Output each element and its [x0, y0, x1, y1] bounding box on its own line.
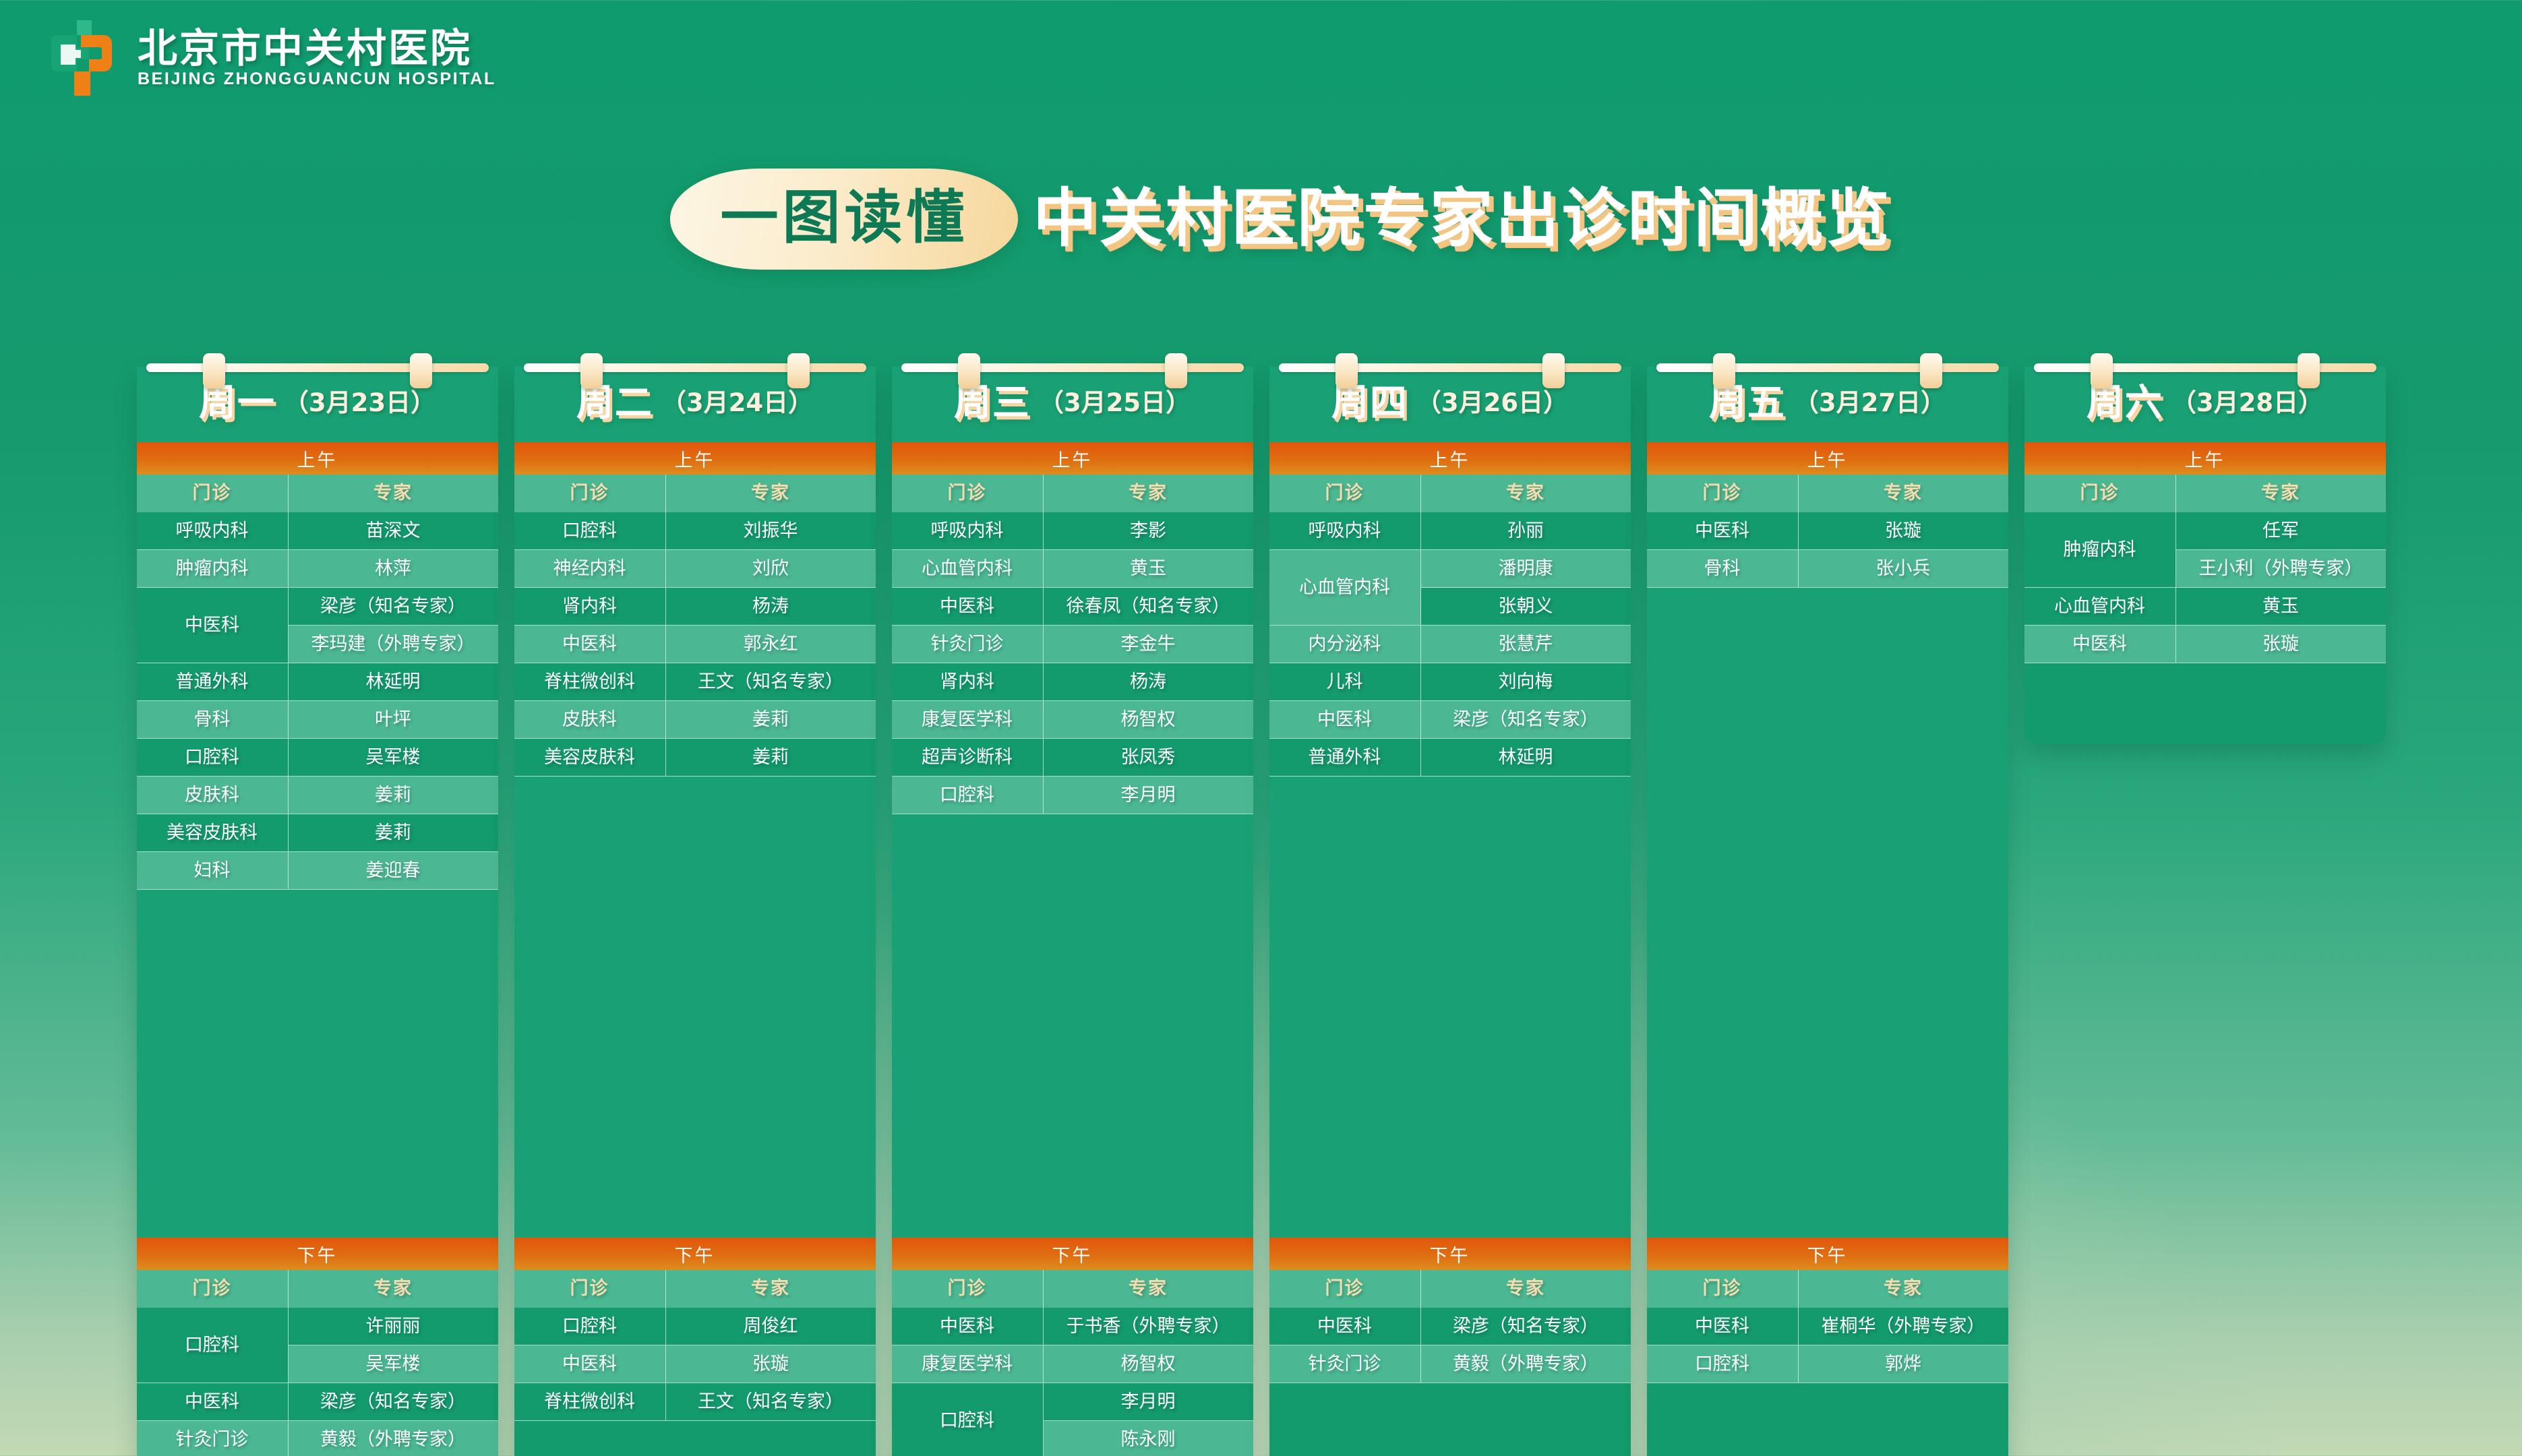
day-card-header: 周四（3月26日）	[1269, 367, 1631, 442]
table-row[interactable]: 皮肤科姜莉	[514, 701, 876, 739]
title-badge-label: 一图读懂	[720, 189, 968, 247]
cell-department: 口腔科	[514, 1308, 666, 1345]
period-header-morning: 上午	[2024, 442, 2386, 475]
cell-expert: 杨涛	[1044, 663, 1253, 700]
day-card-header: 周五（3月27日）	[1647, 367, 2008, 442]
afternoon-section: 下午门诊专家中医科崔桐华（外聘专家）口腔科郭烨	[1647, 1238, 2008, 1383]
cell-expert: 李金牛	[1044, 626, 1253, 663]
cell-expert: 王文（知名专家）	[666, 663, 876, 700]
table-row[interactable]: 心血管内科黄玉	[2024, 588, 2386, 626]
cell-department: 心血管内科	[2024, 588, 2176, 625]
period-header-morning: 上午	[1269, 442, 1631, 475]
period-header-afternoon: 下午	[137, 1238, 498, 1270]
table-row[interactable]: 中医科于书香（外聘专家）	[892, 1308, 1253, 1345]
cell-department: 口腔科	[514, 512, 666, 549]
cell-department: 中医科	[892, 1308, 1044, 1345]
table-row[interactable]: 心血管内科潘明康张朝义	[1269, 550, 1631, 626]
cell-expert: 刘欣	[666, 550, 876, 587]
table-row[interactable]: 心血管内科黄玉	[892, 550, 1253, 588]
cell-department: 骨科	[137, 701, 289, 738]
hospital-name-cn: 北京市中关村医院	[138, 28, 496, 68]
cell-expert: 姜莉	[289, 814, 498, 851]
cell-department: 美容皮肤科	[137, 814, 289, 851]
table-header-row: 门诊专家	[137, 475, 498, 512]
period-header-morning: 上午	[1647, 442, 2008, 475]
cell-expert: 任军	[2176, 512, 2386, 550]
table-row[interactable]: 中医科梁彦（知名专家）	[1269, 1308, 1631, 1345]
table-row[interactable]: 中医科梁彦（知名专家）	[1269, 701, 1631, 739]
cell-department: 脊柱微创科	[514, 1383, 666, 1420]
cell-department: 中医科	[1269, 701, 1421, 738]
cell-expert: 梁彦（知名专家）	[289, 588, 498, 626]
cell-department: 超声诊断科	[892, 739, 1044, 776]
hanger-bar-icon	[146, 363, 489, 372]
day-card-header: 周二（3月24日）	[514, 367, 876, 442]
card-hanger	[1279, 359, 1621, 370]
day-date: （3月24日）	[661, 390, 813, 415]
table-row[interactable]: 针灸门诊黄毅（外聘专家）	[137, 1421, 498, 1456]
table-row[interactable]: 针灸门诊黄毅（外聘专家）	[1269, 1345, 1631, 1383]
expert-group: 潘明康张朝义	[1421, 550, 1631, 625]
cell-expert: 吴军楼	[289, 1345, 498, 1383]
table-header-row: 门诊专家	[137, 1270, 498, 1308]
morning-section: 上午门诊专家呼吸内科苗深文肿瘤内科林萍中医科梁彦（知名专家）李玛建（外聘专家）普…	[137, 442, 498, 1238]
cell-expert: 李月明	[1044, 777, 1253, 814]
cell-department: 中医科	[137, 1383, 289, 1420]
column-header-dept: 门诊	[514, 1270, 666, 1308]
column-header-expert: 专家	[1799, 1270, 2008, 1308]
cell-expert: 黄毅（外聘专家）	[289, 1421, 498, 1456]
cell-department: 心血管内科	[1269, 550, 1421, 625]
cell-department: 口腔科	[137, 739, 289, 776]
cell-expert: 郭永红	[666, 626, 876, 663]
table-row[interactable]: 肾内科杨涛	[514, 588, 876, 626]
cell-department: 中医科	[1647, 1308, 1799, 1345]
table-row[interactable]: 骨科张小兵	[1647, 550, 2008, 588]
day-name: 周一	[199, 384, 276, 421]
cell-expert: 刘振华	[666, 512, 876, 549]
cell-expert: 郭烨	[1799, 1345, 2008, 1383]
table-row[interactable]: 口腔科周俊红	[514, 1308, 876, 1345]
hanger-bar-icon	[901, 363, 1244, 372]
column-header-dept: 门诊	[1647, 475, 1799, 512]
cell-expert: 林萍	[289, 550, 498, 587]
table-row[interactable]: 肿瘤内科任军王小利（外聘专家）	[2024, 512, 2386, 588]
hanger-clip-right-icon	[2298, 353, 2320, 388]
card-hanger	[524, 359, 866, 370]
table-header-row: 门诊专家	[892, 475, 1253, 512]
table-row[interactable]: 中医科郭永红	[514, 626, 876, 663]
cell-expert: 苗深文	[289, 512, 498, 549]
table-row[interactable]: 中医科梁彦（知名专家）	[137, 1383, 498, 1421]
morning-section: 上午门诊专家肿瘤内科任军王小利（外聘专家）心血管内科黄玉中医科张璇	[2024, 442, 2386, 663]
period-header-afternoon: 下午	[514, 1238, 876, 1270]
table-header-row: 门诊专家	[1647, 475, 2008, 512]
hanger-bar-icon	[1279, 363, 1621, 372]
table-row[interactable]: 康复医学科杨智权	[892, 1345, 1253, 1383]
hanger-clip-right-icon	[1920, 353, 1942, 388]
afternoon-section: 下午门诊专家中医科于书香（外聘专家）康复医学科杨智权口腔科李月明陈永刚	[892, 1238, 1253, 1456]
table-row[interactable]: 普通外科林延明	[1269, 739, 1631, 777]
day-name: 周三	[954, 384, 1031, 421]
cell-expert: 吴军楼	[289, 739, 498, 776]
cell-department: 美容皮肤科	[514, 739, 666, 776]
cell-expert: 黄毅（外聘专家）	[1421, 1345, 1631, 1383]
cell-department: 肿瘤内科	[137, 550, 289, 587]
column-header-expert: 专家	[666, 475, 876, 512]
column-header-dept: 门诊	[1269, 1270, 1421, 1308]
cell-expert: 姜莉	[289, 777, 498, 814]
period-header-morning: 上午	[137, 442, 498, 475]
table-row[interactable]: 脊柱微创科王文（知名专家）	[514, 663, 876, 701]
table-row[interactable]: 儿科刘向梅	[1269, 663, 1631, 701]
hanger-clip-left-icon	[2091, 353, 2113, 388]
card-hanger	[1656, 359, 1999, 370]
column-header-dept: 门诊	[2024, 475, 2176, 512]
cell-expert: 杨智权	[1044, 1345, 1253, 1383]
hanger-clip-left-icon	[1335, 353, 1358, 388]
card-tail	[2024, 663, 2386, 744]
cell-expert: 林延明	[289, 663, 498, 700]
column-header-expert: 专家	[1421, 1270, 1631, 1308]
table-row[interactable]: 中医科张璇	[1647, 512, 2008, 550]
cell-department: 针灸门诊	[892, 626, 1044, 663]
card-tail	[514, 1421, 876, 1456]
cell-department: 内分泌科	[1269, 626, 1421, 663]
cell-department: 呼吸内科	[137, 512, 289, 549]
day-date: （3月25日）	[1039, 390, 1191, 415]
cell-expert: 姜莉	[666, 701, 876, 738]
table-row[interactable]: 口腔科刘振华	[514, 512, 876, 550]
cell-expert: 王文（知名专家）	[666, 1383, 876, 1420]
period-header-afternoon: 下午	[1269, 1238, 1631, 1270]
hanger-clip-right-icon	[1542, 353, 1565, 388]
table-row[interactable]: 妇科姜迎春	[137, 852, 498, 890]
table-header-row: 门诊专家	[2024, 475, 2386, 512]
cell-department: 口腔科	[892, 777, 1044, 814]
column-header-dept: 门诊	[137, 475, 289, 512]
card-hanger	[146, 359, 489, 370]
card-hanger	[2034, 359, 2376, 370]
cell-department: 肿瘤内科	[2024, 512, 2176, 587]
column-header-dept: 门诊	[1647, 1270, 1799, 1308]
table-row[interactable]: 口腔科李月明陈永刚	[892, 1383, 1253, 1456]
day-column-2: 周二（3月24日）上午门诊专家口腔科刘振华神经内科刘欣肾内科杨涛中医科郭永红脊柱…	[514, 337, 876, 1456]
table-row[interactable]: 普通外科林延明	[137, 663, 498, 701]
day-date: （3月28日）	[2171, 390, 2323, 415]
table-row[interactable]: 肾内科杨涛	[892, 663, 1253, 701]
cell-department: 针灸门诊	[1269, 1345, 1421, 1383]
afternoon-section: 下午门诊专家中医科梁彦（知名专家）针灸门诊黄毅（外聘专家）	[1269, 1238, 1631, 1383]
cell-expert: 梁彦（知名专家）	[1421, 701, 1631, 738]
cell-expert: 叶坪	[289, 701, 498, 738]
cell-department: 口腔科	[1647, 1345, 1799, 1383]
cell-expert: 杨智权	[1044, 701, 1253, 738]
hanger-bar-icon	[524, 363, 866, 372]
morning-section: 上午门诊专家呼吸内科孙丽心血管内科潘明康张朝义内分泌科张慧芹儿科刘向梅中医科梁彦…	[1269, 442, 1631, 1238]
table-row[interactable]: 呼吸内科李影	[892, 512, 1253, 550]
cell-expert: 张璇	[1799, 512, 2008, 549]
afternoon-section: 下午门诊专家口腔科许丽丽吴军楼中医科梁彦（知名专家）针灸门诊黄毅（外聘专家）推拿…	[137, 1238, 498, 1456]
table-row[interactable]: 口腔科许丽丽吴军楼	[137, 1308, 498, 1383]
cell-expert: 李月明	[1044, 1383, 1253, 1421]
table-header-row: 门诊专家	[1269, 1270, 1631, 1308]
day-date: （3月23日）	[284, 390, 436, 415]
table-row[interactable]: 脊柱微创科王文（知名专家）	[514, 1383, 876, 1421]
table-row[interactable]: 肿瘤内科林萍	[137, 550, 498, 588]
morning-section: 上午门诊专家口腔科刘振华神经内科刘欣肾内科杨涛中医科郭永红脊柱微创科王文（知名专…	[514, 442, 876, 1238]
column-header-expert: 专家	[289, 1270, 498, 1308]
cell-department: 中医科	[1269, 1308, 1421, 1345]
cell-expert: 周俊红	[666, 1308, 876, 1345]
hanger-clip-left-icon	[580, 353, 603, 388]
table-row[interactable]: 皮肤科姜莉	[137, 777, 498, 814]
cell-department: 儿科	[1269, 663, 1421, 700]
cell-expert: 林延明	[1421, 739, 1631, 776]
cell-expert: 姜莉	[666, 739, 876, 776]
expert-group: 李月明陈永刚	[1044, 1383, 1253, 1456]
table-row[interactable]: 超声诊断科张凤秀	[892, 739, 1253, 777]
day-column-1: 周一（3月23日）上午门诊专家呼吸内科苗深文肿瘤内科林萍中医科梁彦（知名专家）李…	[137, 337, 498, 1456]
cell-department: 针灸门诊	[137, 1421, 289, 1456]
day-card-header: 周三（3月25日）	[892, 367, 1253, 442]
day-column-4: 周四（3月26日）上午门诊专家呼吸内科孙丽心血管内科潘明康张朝义内分泌科张慧芹儿…	[1269, 337, 1631, 1456]
expert-group: 任军王小利（外聘专家）	[2176, 512, 2386, 587]
table-row[interactable]: 中医科梁彦（知名专家）李玛建（外聘专家）	[137, 588, 498, 663]
cell-expert: 张璇	[666, 1345, 876, 1383]
hanger-bar-icon	[2034, 363, 2376, 372]
cell-department: 口腔科	[892, 1383, 1044, 1456]
cell-department: 骨科	[1647, 550, 1799, 587]
day-date: （3月27日）	[1794, 390, 1946, 415]
hospital-name-en: BEIJING ZHONGGUANCUN HOSPITAL	[138, 71, 496, 88]
cell-expert: 梁彦（知名专家）	[289, 1383, 498, 1420]
page-title-row: 一图读懂 中关村医院专家出诊时间概览	[0, 169, 2522, 270]
card-hanger	[901, 359, 1244, 370]
cell-department: 中医科	[892, 588, 1044, 625]
cell-department: 口腔科	[137, 1308, 289, 1383]
column-header-expert: 专家	[1799, 475, 2008, 512]
hanger-clip-left-icon	[1713, 353, 1735, 388]
expert-group: 许丽丽吴军楼	[289, 1308, 498, 1383]
table-row[interactable]: 神经内科刘欣	[514, 550, 876, 588]
cell-department: 呼吸内科	[1269, 512, 1421, 549]
cell-expert: 徐春凤（知名专家）	[1044, 588, 1253, 625]
column-header-expert: 专家	[289, 475, 498, 512]
title-badge: 一图读懂	[670, 169, 1018, 270]
cell-department: 普通外科	[1269, 739, 1421, 776]
cell-department: 中医科	[1647, 512, 1799, 549]
hanger-clip-right-icon	[787, 353, 810, 388]
day-column-6: 周六（3月28日）上午门诊专家肿瘤内科任军王小利（外聘专家）心血管内科黄玉中医科…	[2024, 337, 2386, 1456]
cell-expert: 杨涛	[666, 588, 876, 625]
table-header-row: 门诊专家	[514, 475, 876, 512]
cell-department: 心血管内科	[892, 550, 1044, 587]
day-name: 周二	[576, 384, 653, 421]
table-row[interactable]: 口腔科郭烨	[1647, 1345, 2008, 1383]
cell-department: 普通外科	[137, 663, 289, 700]
table-row[interactable]: 骨科叶坪	[137, 701, 498, 739]
table-row[interactable]: 美容皮肤科姜莉	[137, 814, 498, 852]
cell-expert: 孙丽	[1421, 512, 1631, 549]
cell-expert: 许丽丽	[289, 1308, 498, 1345]
cell-expert: 刘向梅	[1421, 663, 1631, 700]
period-header-morning: 上午	[892, 442, 1253, 475]
morning-section: 上午门诊专家呼吸内科李影心血管内科黄玉中医科徐春凤（知名专家）针灸门诊李金牛肾内…	[892, 442, 1253, 1238]
table-header-row: 门诊专家	[1647, 1270, 2008, 1308]
column-header-dept: 门诊	[892, 1270, 1044, 1308]
cell-expert: 李影	[1044, 512, 1253, 549]
hanger-clip-right-icon	[1165, 353, 1187, 388]
cell-department: 肾内科	[514, 588, 666, 625]
day-name: 周五	[1709, 384, 1786, 421]
table-row[interactable]: 康复医学科杨智权	[892, 701, 1253, 739]
column-header-expert: 专家	[2176, 475, 2386, 512]
cell-department: 脊柱微创科	[514, 663, 666, 700]
day-card: 周三（3月25日）上午门诊专家呼吸内科李影心血管内科黄玉中医科徐春凤（知名专家）…	[892, 367, 1253, 1456]
cell-expert: 李玛建（外聘专家）	[289, 626, 498, 663]
column-header-dept: 门诊	[892, 475, 1044, 512]
card-tail	[1647, 1383, 2008, 1456]
cell-department: 妇科	[137, 852, 289, 889]
cell-expert: 黄玉	[2176, 588, 2386, 625]
cell-expert: 张璇	[2176, 626, 2386, 663]
cell-expert: 姜迎春	[289, 852, 498, 889]
cell-department: 呼吸内科	[892, 512, 1044, 549]
cell-expert: 于书香（外聘专家）	[1044, 1308, 1253, 1345]
cell-department: 肾内科	[892, 663, 1044, 700]
page-title: 中关村医院专家出诊时间概览	[1033, 186, 1892, 253]
table-row[interactable]: 呼吸内科孙丽	[1269, 512, 1631, 550]
cell-department: 康复医学科	[892, 1345, 1044, 1383]
day-column-5: 周五（3月27日）上午门诊专家中医科张璇骨科张小兵下午门诊专家中医科崔桐华（外聘…	[1647, 337, 2008, 1456]
table-row[interactable]: 美容皮肤科姜莉	[514, 739, 876, 777]
column-header-expert: 专家	[1044, 1270, 1253, 1308]
cell-expert: 张慧芹	[1421, 626, 1631, 663]
cell-expert: 崔桐华（外聘专家）	[1799, 1308, 2008, 1345]
cell-department: 皮肤科	[137, 777, 289, 814]
cell-department: 中医科	[514, 1345, 666, 1383]
cell-expert: 陈永刚	[1044, 1421, 1253, 1456]
table-row[interactable]: 中医科崔桐华（外聘专家）	[1647, 1308, 2008, 1345]
hospital-logo: 北京市中关村医院 BEIJING ZHONGGUANCUN HOSPITAL	[46, 18, 496, 98]
day-name: 周六	[2086, 384, 2163, 421]
card-tail	[1269, 1383, 1631, 1456]
cell-expert: 张凤秀	[1044, 739, 1253, 776]
table-row[interactable]: 口腔科吴军楼	[137, 739, 498, 777]
cell-expert: 黄玉	[1044, 550, 1253, 587]
hanger-clip-left-icon	[958, 353, 980, 388]
table-header-row: 门诊专家	[514, 1270, 876, 1308]
hanger-bar-icon	[1656, 363, 1999, 372]
cell-department: 中医科	[137, 588, 289, 663]
day-card-header: 周一（3月23日）	[137, 367, 498, 442]
schedule-board: 周一（3月23日）上午门诊专家呼吸内科苗深文肿瘤内科林萍中医科梁彦（知名专家）李…	[0, 337, 2522, 1456]
period-header-afternoon: 下午	[892, 1238, 1253, 1270]
logo-wordmark: 北京市中关村医院 BEIJING ZHONGGUANCUN HOSPITAL	[138, 28, 496, 88]
cell-expert: 潘明康	[1421, 550, 1631, 588]
table-row[interactable]: 中医科徐春凤（知名专家）	[892, 588, 1253, 626]
column-header-expert: 专家	[1044, 475, 1253, 512]
morning-section: 上午门诊专家中医科张璇骨科张小兵	[1647, 442, 2008, 1238]
period-header-morning: 上午	[514, 442, 876, 475]
day-date: （3月26日）	[1416, 390, 1568, 415]
cell-department: 神经内科	[514, 550, 666, 587]
day-card: 周二（3月24日）上午门诊专家口腔科刘振华神经内科刘欣肾内科杨涛中医科郭永红脊柱…	[514, 367, 876, 1456]
column-header-expert: 专家	[1421, 475, 1631, 512]
cell-department: 皮肤科	[514, 701, 666, 738]
period-header-afternoon: 下午	[1647, 1238, 2008, 1270]
afternoon-section: 下午门诊专家口腔科周俊红中医科张璇脊柱微创科王文（知名专家）	[514, 1238, 876, 1421]
column-header-dept: 门诊	[137, 1270, 289, 1308]
column-header-expert: 专家	[666, 1270, 876, 1308]
day-card: 周六（3月28日）上午门诊专家肿瘤内科任军王小利（外聘专家）心血管内科黄玉中医科…	[2024, 367, 2386, 744]
cell-department: 中医科	[514, 626, 666, 663]
table-row[interactable]: 口腔科李月明	[892, 777, 1253, 814]
table-row[interactable]: 中医科张璇	[2024, 626, 2386, 663]
cell-department: 康复医学科	[892, 701, 1044, 738]
cell-expert: 王小利（外聘专家）	[2176, 550, 2386, 587]
hospital-cross-logo-icon	[46, 18, 121, 98]
column-header-dept: 门诊	[514, 475, 666, 512]
hanger-clip-right-icon	[410, 353, 432, 388]
table-header-row: 门诊专家	[892, 1270, 1253, 1308]
table-row[interactable]: 内分泌科张慧芹	[1269, 626, 1631, 663]
table-row[interactable]: 针灸门诊李金牛	[892, 626, 1253, 663]
day-column-3: 周三（3月25日）上午门诊专家呼吸内科李影心血管内科黄玉中医科徐春凤（知名专家）…	[892, 337, 1253, 1456]
day-card: 周四（3月26日）上午门诊专家呼吸内科孙丽心血管内科潘明康张朝义内分泌科张慧芹儿…	[1269, 367, 1631, 1456]
expert-group: 梁彦（知名专家）李玛建（外聘专家）	[289, 588, 498, 663]
table-header-row: 门诊专家	[1269, 475, 1631, 512]
day-card: 周一（3月23日）上午门诊专家呼吸内科苗深文肿瘤内科林萍中医科梁彦（知名专家）李…	[137, 367, 498, 1456]
cell-expert: 梁彦（知名专家）	[1421, 1308, 1631, 1345]
day-card: 周五（3月27日）上午门诊专家中医科张璇骨科张小兵下午门诊专家中医科崔桐华（外聘…	[1647, 367, 2008, 1456]
cell-expert: 张朝义	[1421, 588, 1631, 625]
day-name: 周四	[1331, 384, 1408, 421]
cell-department: 中医科	[2024, 626, 2176, 663]
cell-expert: 张小兵	[1799, 550, 2008, 587]
day-card-header: 周六（3月28日）	[2024, 367, 2386, 442]
hanger-clip-left-icon	[203, 353, 225, 388]
column-header-dept: 门诊	[1269, 475, 1421, 512]
table-row[interactable]: 中医科张璇	[514, 1345, 876, 1383]
table-row[interactable]: 呼吸内科苗深文	[137, 512, 498, 550]
